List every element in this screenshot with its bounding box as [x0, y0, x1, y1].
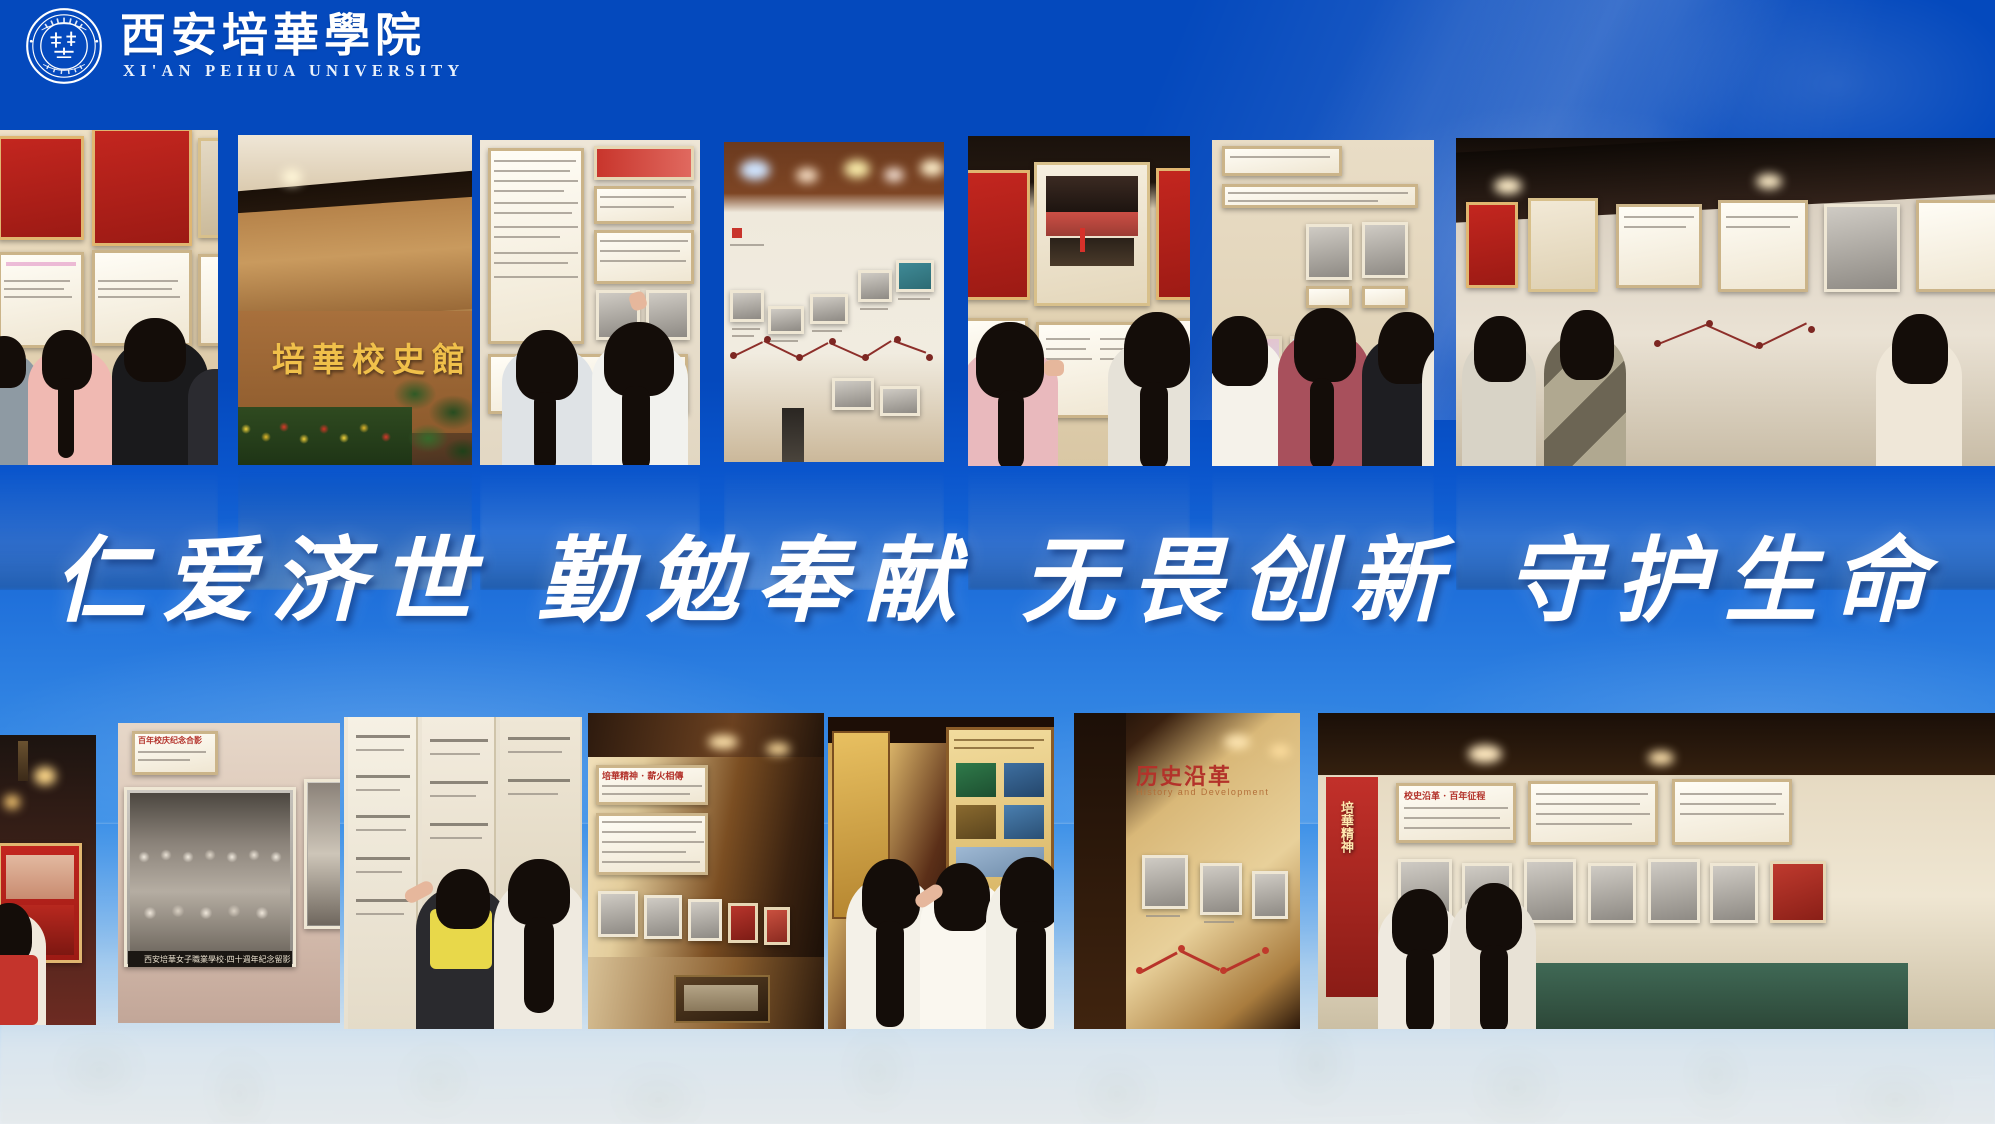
university-name-cn: 西安培華學院 — [120, 11, 464, 59]
history-hall-sign-en: History and Development — [1136, 787, 1269, 797]
university-logo: 西安培華學院 XI'AN PEIHUA UNIVERSITY — [24, 6, 464, 86]
top-photo-strip: 培華校史館 — [0, 170, 1995, 470]
university-seal-icon — [24, 6, 104, 86]
photo-exhibit-red-posters[interactable] — [0, 130, 218, 465]
university-banner: 西安培華學院 XI'AN PEIHUA UNIVERSITY — [0, 0, 1995, 1124]
photo-photo-gallery-visit[interactable] — [1212, 140, 1434, 466]
photo-corridor-visit[interactable] — [1456, 138, 1995, 466]
photo-portrait-panel-viewing[interactable] — [480, 140, 700, 465]
logo-text-block: 西安培華學院 XI'AN PEIHUA UNIVERSITY — [120, 11, 464, 81]
photo-timeline-wall[interactable] — [724, 142, 944, 462]
photo-long-gallery-wall[interactable]: 培華精神 · 薪火相傳 — [588, 713, 824, 1029]
photo-red-theme-hall[interactable] — [0, 735, 96, 1025]
bottom-photo-strip: 百年校庆纪念合影 西安培華女子職業學校·四十週年紀念留影 — [0, 735, 1995, 1045]
photo-students-pointing-panel[interactable] — [344, 717, 582, 1029]
photo-museum-entrance-sign[interactable]: 培華校史館 — [238, 135, 472, 465]
university-name-en: XI'AN PEIHUA UNIVERSITY — [120, 61, 464, 81]
photo-bw-group-photo-panel[interactable]: 百年校庆纪念合影 西安培華女子職業學校·四十週年紀念留影 — [118, 723, 340, 1023]
photo-history-development-hall[interactable]: 历史沿革 History and Development — [1074, 713, 1300, 1029]
page-slogan: 仁爱济世 勤勉奉献 无畏创新 守护生命 — [0, 505, 1995, 640]
photo-students-at-display-case[interactable] — [828, 717, 1054, 1029]
photo-document-case-reading[interactable] — [968, 136, 1190, 466]
photo-archive-wall-visit[interactable]: 培華精神 校史沿革 · 百年征程 — [1318, 713, 1995, 1029]
